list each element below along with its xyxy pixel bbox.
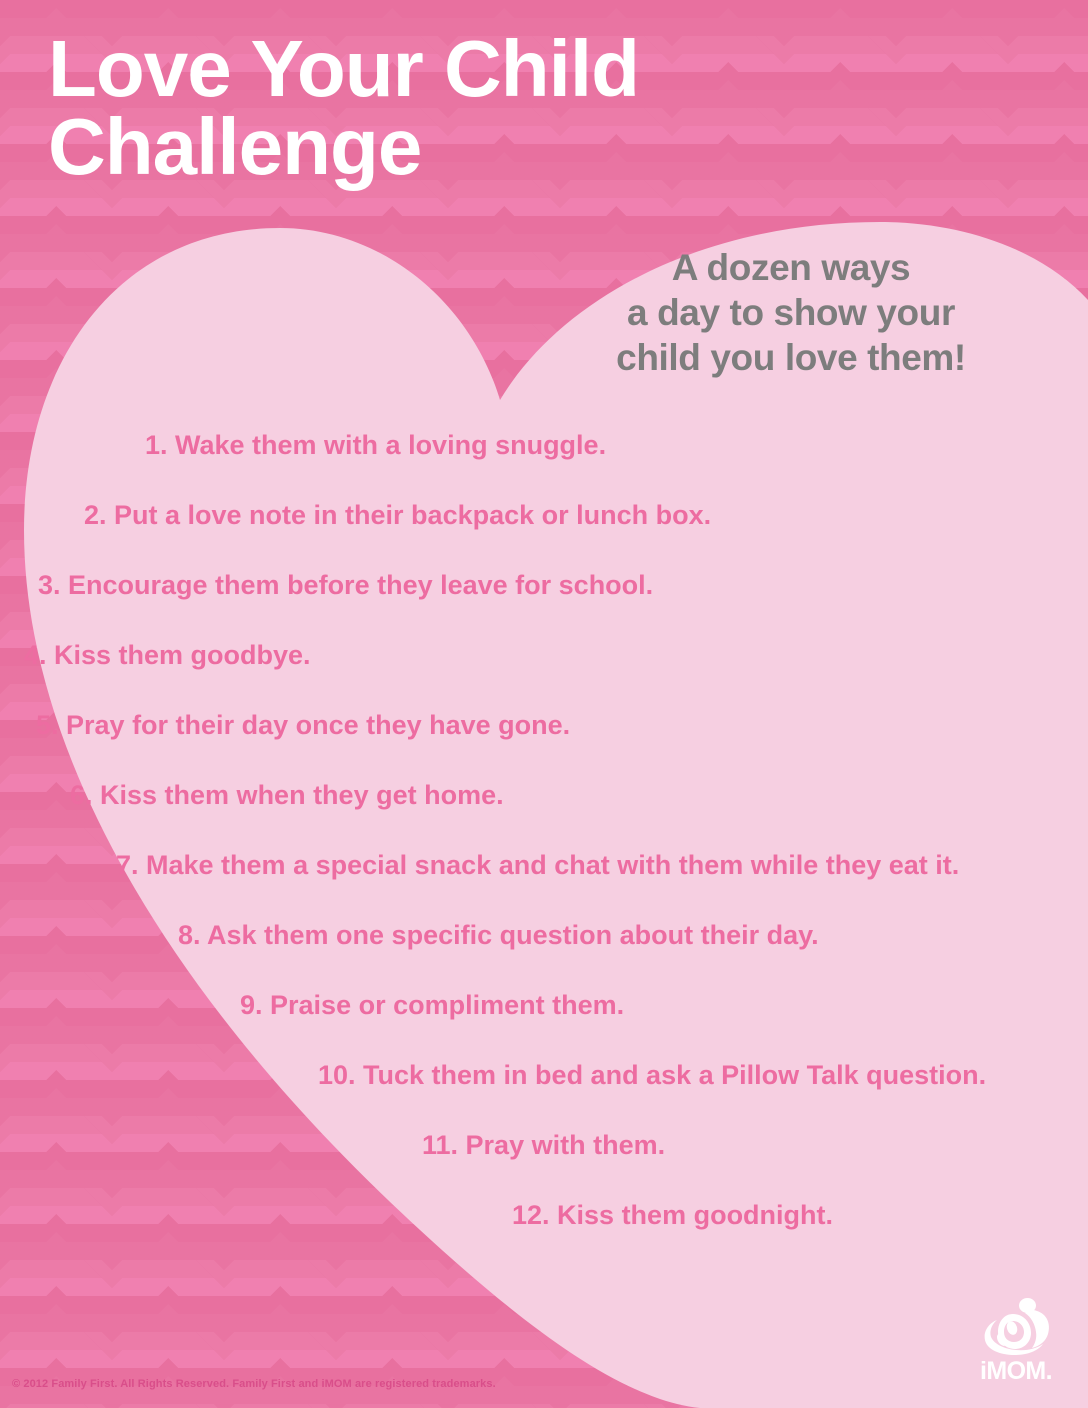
challenge-list-item: 3. Encourage them before they leave for … [0,572,1088,642]
title-line-1: Love Your Child [48,30,808,108]
challenge-list-item: 9. Praise or compliment them. [0,992,1088,1062]
copyright-notice: © 2012 Family First. All Rights Reserved… [12,1378,496,1390]
challenge-list-item: 12. Kiss them goodnight. [0,1202,1088,1272]
poster-canvas: Love Your Child Challenge A dozen ways a… [0,0,1088,1408]
subtitle: A dozen ways a day to show your child yo… [556,245,1026,380]
challenge-list-item: 10. Tuck them in bed and ask a Pillow Ta… [0,1062,1088,1132]
imom-logo: iMOM. [962,1294,1070,1386]
challenge-list-item: 5. Pray for their day once they have gon… [0,712,1088,782]
challenge-list-item: 8. Ask them one specific question about … [0,922,1088,992]
imom-mother-child-icon [977,1294,1055,1356]
challenge-list-item: 2. Put a love note in their backpack or … [0,502,1088,572]
page-title: Love Your Child Challenge [48,30,808,187]
imom-wordmark: iMOM. [962,1357,1070,1386]
title-line-2: Challenge [48,108,808,186]
challenge-list-item: 4. Kiss them goodbye. [0,642,1088,712]
challenge-list-item: 6. Kiss them when they get home. [0,782,1088,852]
challenge-list-item: 1. Wake them with a loving snuggle. [0,432,1088,502]
challenge-list: 1. Wake them with a loving snuggle.2. Pu… [0,432,1088,1272]
subtitle-line-2: a day to show your [556,290,1026,335]
challenge-list-item: 11. Pray with them. [0,1132,1088,1202]
subtitle-line-3: child you love them! [556,335,1026,380]
challenge-list-item: 7. Make them a special snack and chat wi… [0,852,1088,922]
subtitle-line-1: A dozen ways [556,245,1026,290]
